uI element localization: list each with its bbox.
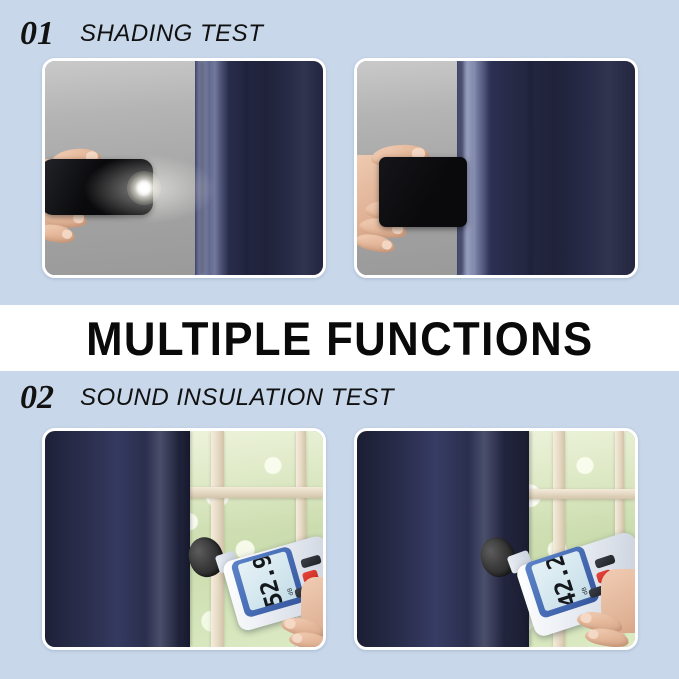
smartphone xyxy=(379,157,467,227)
photo-shading-light-on xyxy=(45,61,323,275)
photo-panel-sound-open[interactable]: 52.9 dB xyxy=(42,428,326,650)
section-title-02: SOUND INSULATION TEST xyxy=(80,384,394,412)
photo-panel-shading-blocked[interactable] xyxy=(354,58,638,278)
banner-title: MULTIPLE FUNCTIONS xyxy=(86,315,594,362)
photo-panel-shading-light-on[interactable] xyxy=(42,58,326,278)
fingernail xyxy=(588,629,599,639)
photo-shading-blocked xyxy=(357,61,635,275)
fingernail xyxy=(283,618,296,630)
window-mullion-horizontal xyxy=(517,489,635,499)
window-mullion-horizontal xyxy=(185,487,323,498)
section-number-01: 01 xyxy=(20,17,54,51)
curtain-sheen xyxy=(145,431,179,647)
hand xyxy=(279,575,323,645)
fingernail xyxy=(61,229,72,239)
hand xyxy=(577,569,635,645)
section-header-01: 01 SHADING TEST xyxy=(0,10,679,58)
fingernail xyxy=(580,612,593,624)
flashlight-beam xyxy=(127,171,161,205)
photo-sound-curtain-drawn: ◎ 42.2 dB xyxy=(357,431,635,647)
banner-multiple-functions: MULTIPLE FUNCTIONS xyxy=(0,305,679,371)
fingernail xyxy=(381,240,393,251)
sound-level-meter: ◎ 42.2 dB xyxy=(477,527,635,647)
photo-panel-sound-curtained[interactable]: ◎ 42.2 dB xyxy=(354,428,638,650)
infographic-page: 01 SHADING TEST xyxy=(0,0,679,679)
photo-sound-open-window: 52.9 dB xyxy=(45,431,323,647)
section-header-02: 02 SOUND INSULATION TEST xyxy=(0,374,679,422)
fingernail xyxy=(292,633,303,644)
section-title-01: SHADING TEST xyxy=(80,20,263,48)
sound-level-meter: 52.9 dB xyxy=(183,527,323,645)
curtain-fold xyxy=(529,61,532,275)
curtain-fold xyxy=(245,61,248,275)
phone-screen-glare xyxy=(379,157,467,227)
section-number-02: 02 xyxy=(20,381,54,415)
